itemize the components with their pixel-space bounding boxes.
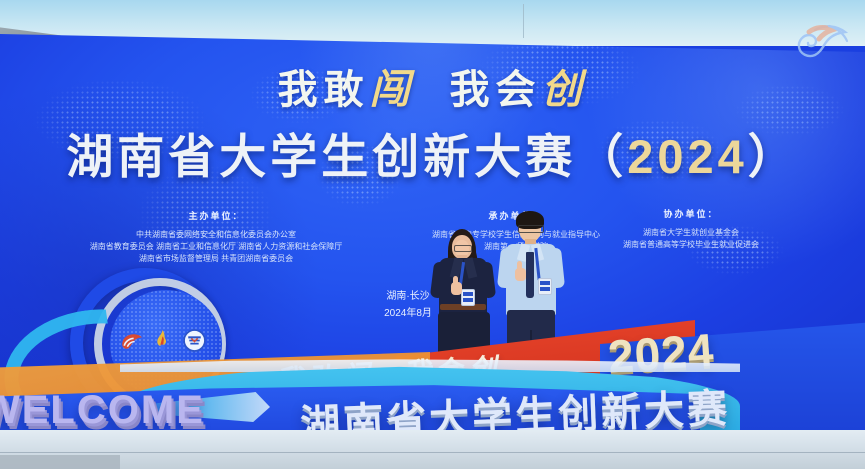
- main-title-lead: 湖南省大学生创新大赛（: [66, 130, 627, 183]
- ground-pavement: [0, 430, 865, 469]
- glasses: [454, 245, 472, 252]
- host-organizer-line: 湖南省市场监督管理局 共青团湖南省委员会: [66, 253, 366, 265]
- wave-swirl-logo-icon: [785, 20, 851, 72]
- welcome-block-letters: WELCOME: [0, 388, 205, 433]
- slogan-text-2: 我会: [450, 68, 542, 112]
- hand-thumbs-up: [515, 268, 526, 281]
- slogan-highlight-1: 闯: [370, 68, 416, 112]
- co-organizer-block: 协办单位： 湖南省大学生就创业基金会 湖南省普通高等学校毕业生就业促进会: [566, 204, 816, 251]
- host-organizer-heading: 主办单位：: [184, 209, 247, 224]
- backdrop-main-title: 湖南省大学生创新大赛（2024）: [0, 128, 865, 186]
- antenna-pole: [523, 4, 524, 38]
- id-badge: [461, 289, 475, 306]
- backdrop-slogan: 我敢闯我会创: [0, 66, 865, 114]
- stage-year-label: 2024: [606, 322, 716, 383]
- necktie: [526, 252, 534, 298]
- main-title-tail: ）: [748, 130, 799, 183]
- co-organizer-line: 湖南省普通高等学校毕业生就业促进会: [566, 239, 816, 251]
- curb-edge: [0, 455, 120, 469]
- host-organizer-line: 湖南省教育委员会 湖南省工业和信息化厅 湖南省人力资源和社会保障厅: [66, 241, 366, 253]
- pavement-seam: [0, 452, 865, 453]
- main-title-year: 2024: [627, 130, 748, 183]
- event-photo-scene: 我敢闯我会创 湖南省大学生创新大赛（2024） 主办单位： 中共湖南省委网络安全…: [0, 0, 865, 469]
- host-organizer-block: 主办单位： 中共湖南省委网络安全和信息化委员会办公室 湖南省教育委员会 湖南省工…: [66, 206, 366, 265]
- co-organizer-heading: 协办单位：: [659, 207, 722, 222]
- host-organizer-line: 中共湖南省委网络安全和信息化委员会办公室: [66, 229, 366, 241]
- co-organizer-line: 湖南省大学生就创业基金会: [566, 227, 816, 239]
- slogan-text-1: 我敢: [278, 68, 370, 112]
- glasses: [518, 225, 544, 233]
- id-badge: [538, 278, 552, 295]
- slogan-highlight-2: 创: [542, 68, 588, 112]
- hand-thumbs-up: [451, 282, 462, 295]
